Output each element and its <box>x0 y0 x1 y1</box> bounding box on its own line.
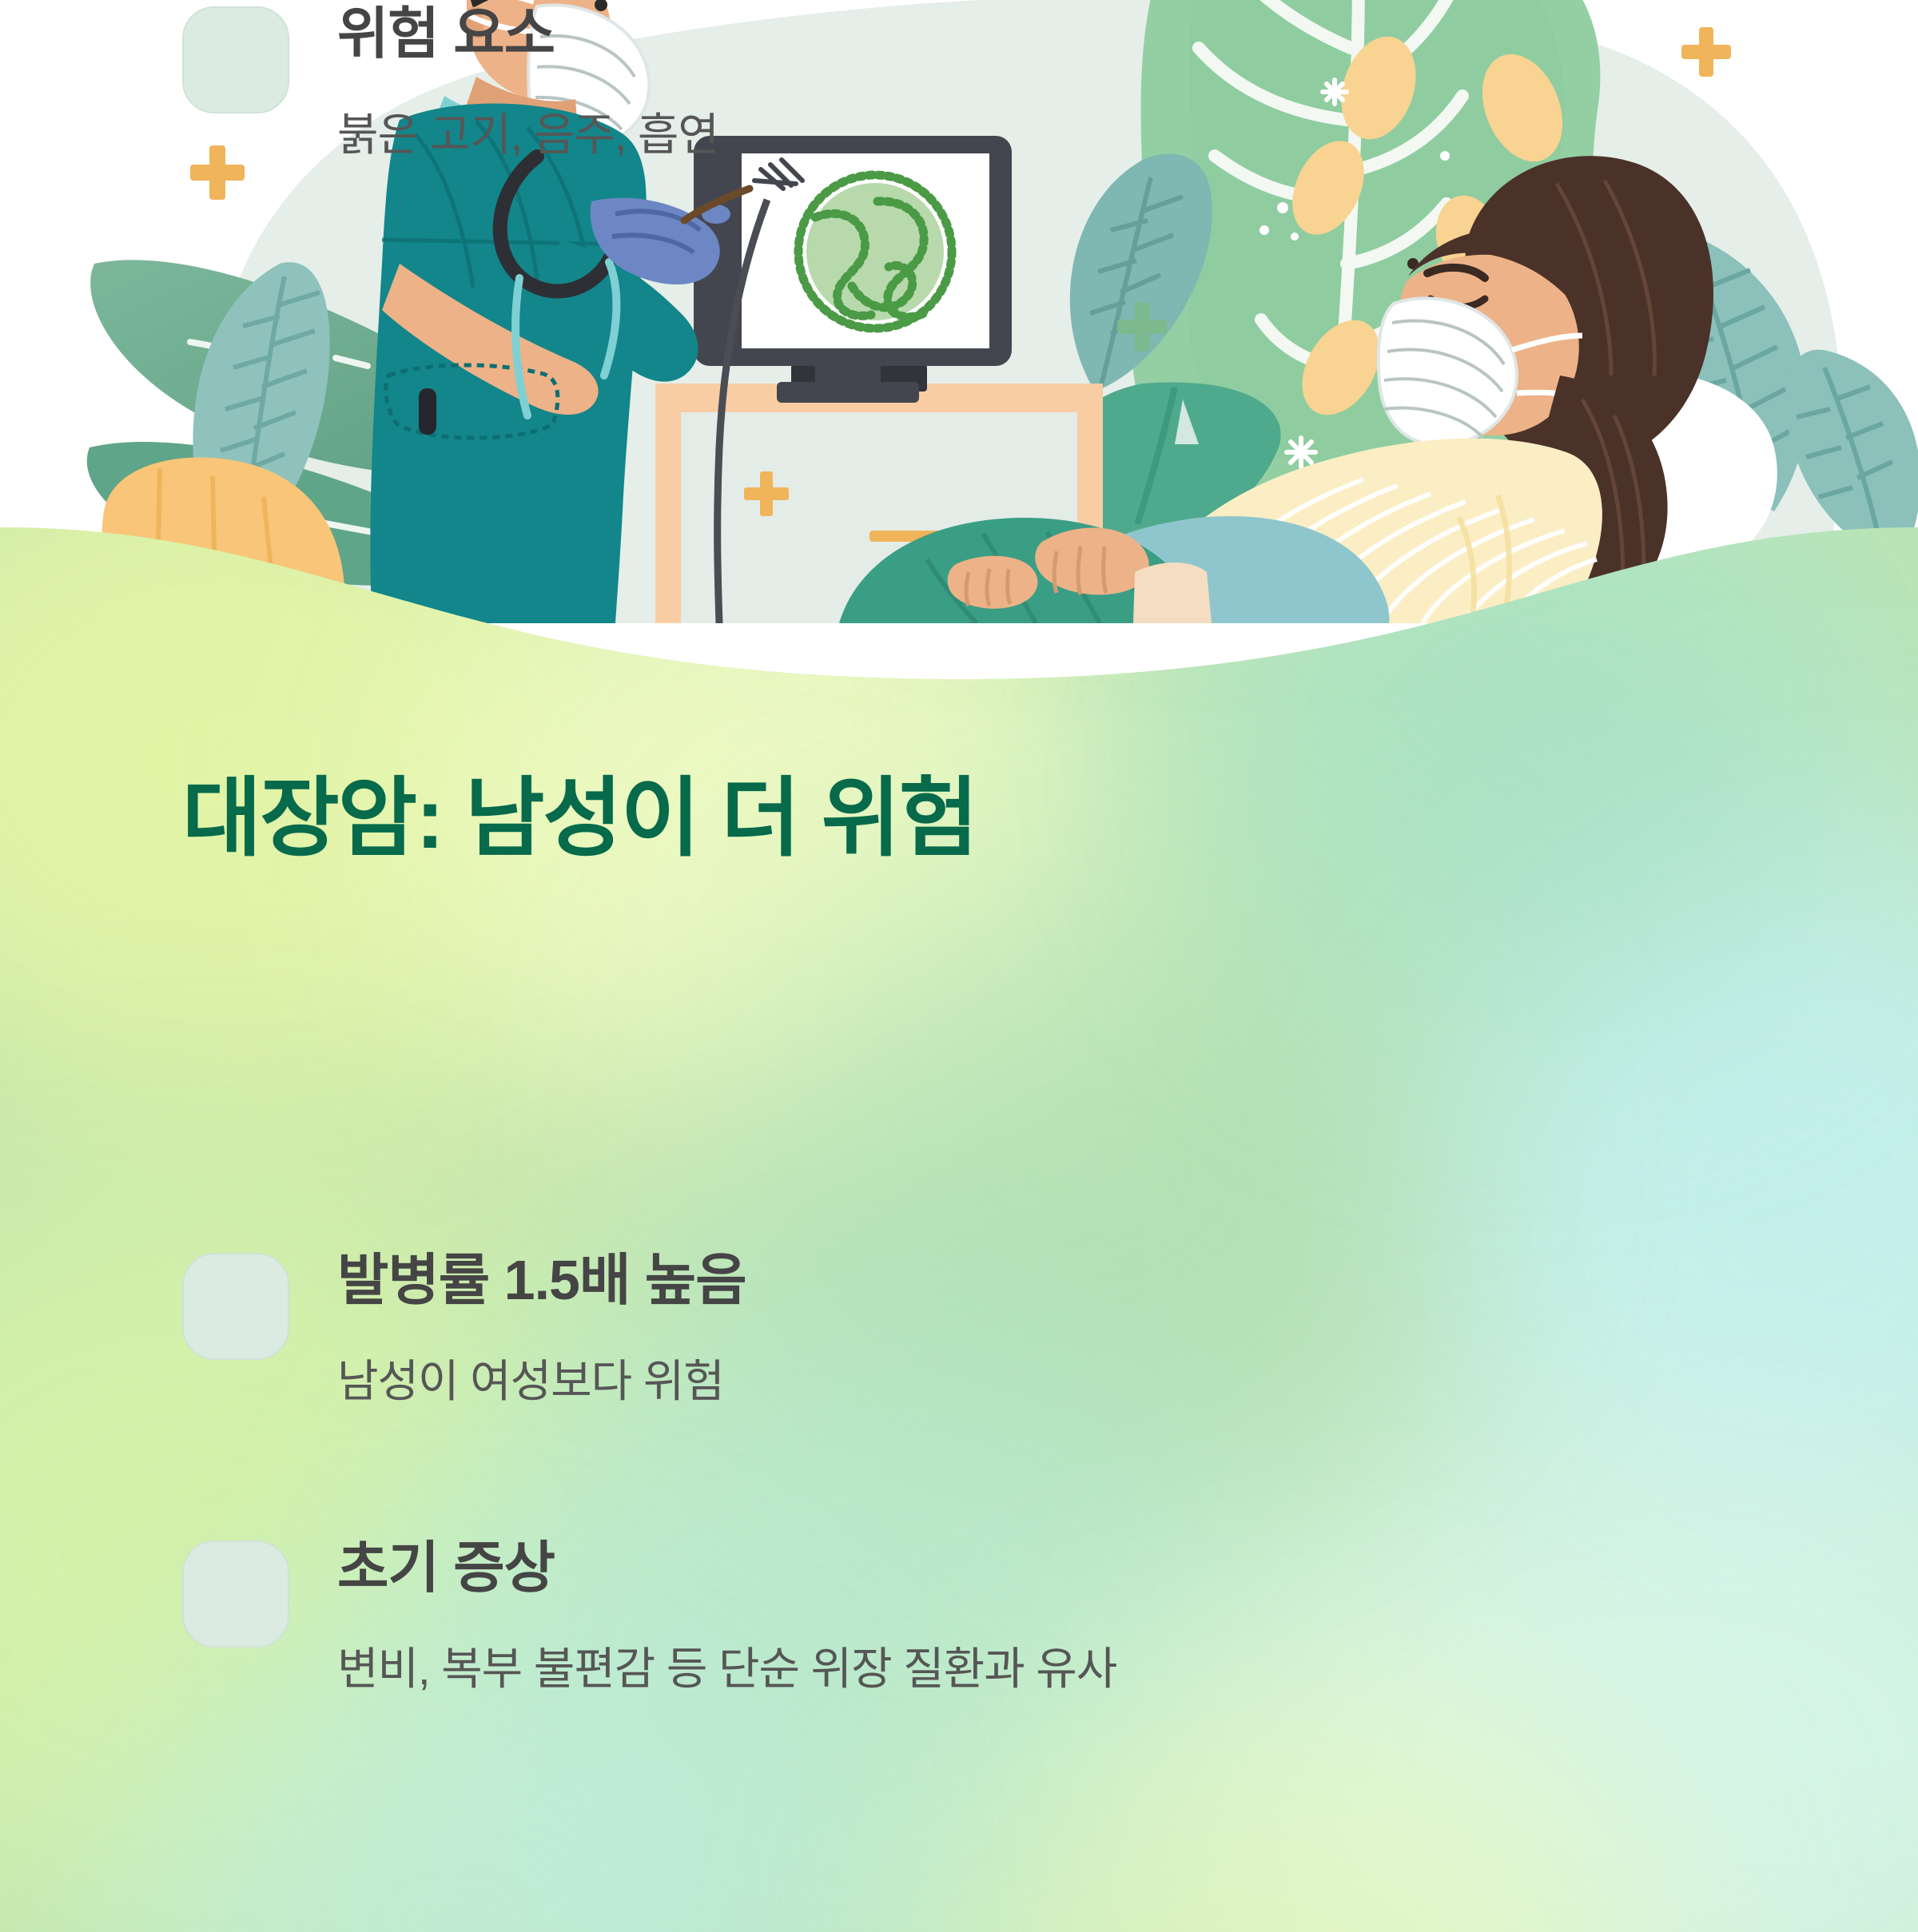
list-item-subtext: 변비, 복부 불편감 등 단순 위장 질환과 유사 <box>337 1640 1116 1699</box>
page-title: 대장암: 남성이 더 위험 <box>182 771 977 866</box>
list-item-heading: 위험 요소 <box>337 0 718 68</box>
rounded-square-bullet-icon <box>182 6 289 113</box>
list-item-heading: 발병률 1.5배 높음 <box>337 1246 746 1314</box>
text-content: 대장암: 남성이 더 위험 발병률 1.5배 높음 남성이 여성보다 위험 초기… <box>0 0 1918 1932</box>
list-item-subtext: 붉은 고기, 음주, 흡연 <box>337 106 718 165</box>
list-item: 발병률 1.5배 높음 남성이 여성보다 위험 <box>182 1246 746 1411</box>
list-item: 초기 증상 변비, 복부 불편감 등 단순 위장 질환과 유사 <box>182 1534 1116 1699</box>
infographic-card: 대장암: 남성이 더 위험 발병률 1.5배 높음 남성이 여성보다 위험 초기… <box>0 0 1918 1932</box>
list-item-subtext: 남성이 여성보다 위험 <box>337 1353 746 1411</box>
rounded-square-bullet-icon <box>182 1253 289 1360</box>
list-item: 위험 요소 붉은 고기, 음주, 흡연 <box>182 0 718 165</box>
list-item-heading: 초기 증상 <box>337 1534 1116 1602</box>
rounded-square-bullet-icon <box>182 1540 289 1648</box>
